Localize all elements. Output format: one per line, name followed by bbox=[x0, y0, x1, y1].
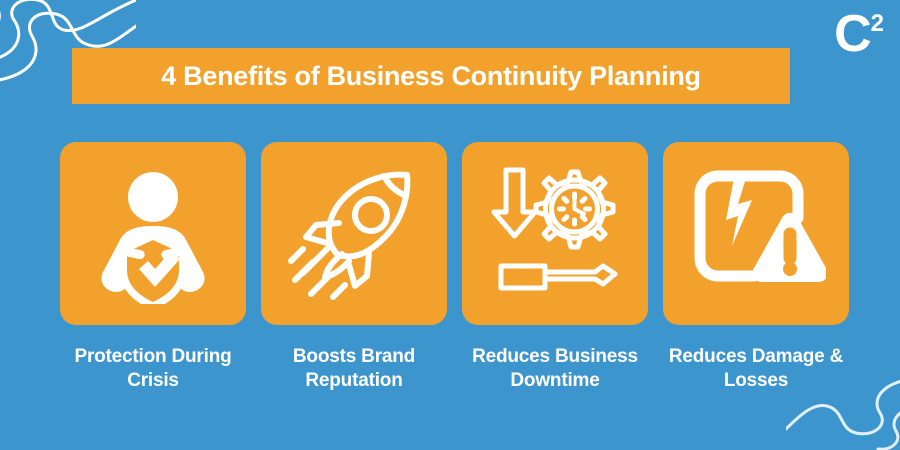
benefits-row: Protection During Crisis bbox=[60, 142, 856, 394]
icon-tile bbox=[462, 142, 648, 325]
person-shield-check-icon bbox=[83, 164, 223, 304]
benefit-card-reduces-business-downtime: Reduces Business Downtime bbox=[462, 142, 648, 394]
infographic-canvas: C2 4 Benefits of Business Continuity Pla… bbox=[0, 0, 900, 450]
benefit-card-reduces-damage-losses: Reduces Damage & Losses bbox=[663, 142, 849, 394]
benefit-caption: Reduces Business Downtime bbox=[462, 345, 648, 394]
rocket-launch-icon bbox=[283, 163, 425, 305]
logo-superscript: 2 bbox=[871, 12, 884, 36]
broken-screen-warning-icon bbox=[686, 164, 826, 304]
icon-tile bbox=[663, 142, 849, 325]
title-banner: 4 Benefits of Business Continuity Planni… bbox=[72, 48, 790, 104]
page-title: 4 Benefits of Business Continuity Planni… bbox=[161, 61, 700, 92]
benefit-caption: Protection During Crisis bbox=[60, 345, 246, 394]
icon-tile bbox=[60, 142, 246, 325]
benefit-card-protection-during-crisis: Protection During Crisis bbox=[60, 142, 246, 394]
c2-logo: C2 bbox=[810, 8, 884, 60]
logo-letter: C bbox=[834, 8, 870, 60]
icon-tile bbox=[261, 142, 447, 325]
benefit-card-boosts-brand-reputation: Boosts Brand Reputation bbox=[261, 142, 447, 394]
benefit-caption: Reduces Damage & Losses bbox=[663, 345, 849, 394]
down-arrow-gear-clock-screwdriver-icon bbox=[483, 162, 627, 306]
benefit-caption: Boosts Brand Reputation bbox=[261, 345, 447, 394]
